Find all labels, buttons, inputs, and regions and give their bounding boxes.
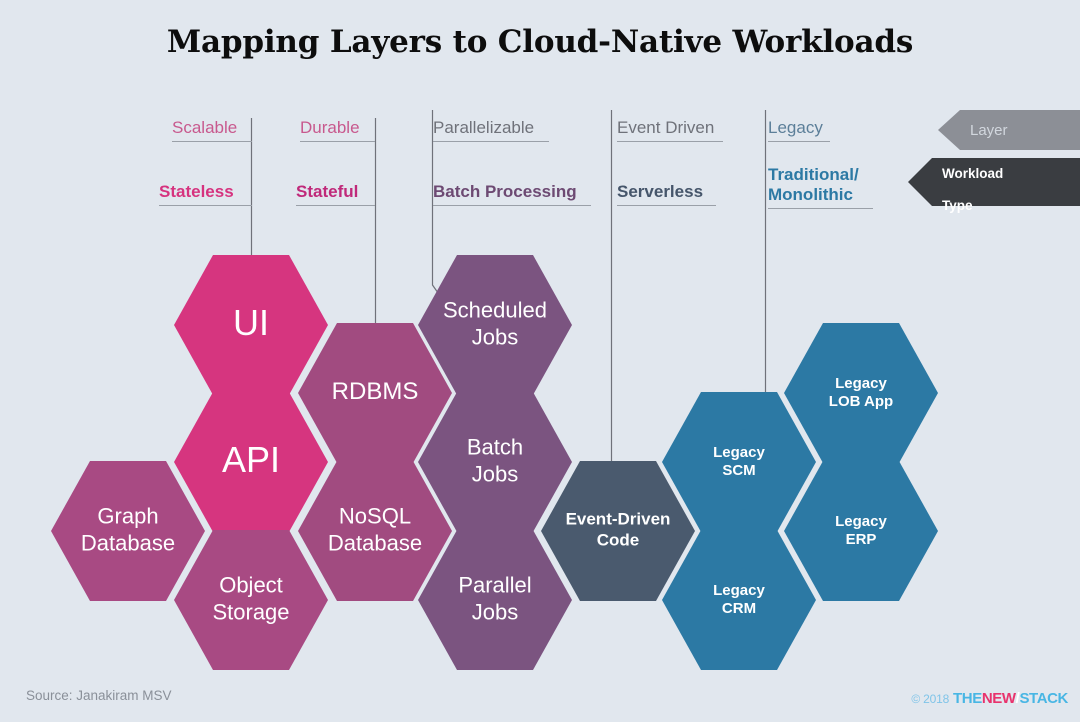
hexagon-label-line: Database [81,530,175,555]
brand-credit: © 2018 THENEW/STACK [911,690,1068,707]
hexagon-ui[interactable]: UI [174,255,328,395]
thenewstack-logo: THENEW/STACK [953,690,1068,707]
hexagon-label-line: UI [233,302,269,343]
hexagon-grid: UIAPIGraphDatabaseObjectStorageRDBMSNoSQ… [0,0,1080,722]
hexagon-label: ObjectStorage [212,572,289,624]
hexagon-batch-jobs[interactable]: BatchJobs [418,392,572,532]
copyright-text: © 2018 [911,692,949,706]
brand-stack: STACK [1019,690,1068,707]
hexagon-label-line: Event-Driven [566,510,671,529]
hexagon-label-line: SCM [722,462,755,479]
hexagon-label: API [222,439,280,480]
hexagon-label-line: Code [597,531,640,550]
brand-the: THE [953,690,982,707]
hexagon-label-line: Jobs [472,324,518,349]
hexagon-label-line: ERP [846,531,877,548]
hexagon-label: BatchJobs [467,434,523,486]
hexagon-label-line: Jobs [472,461,518,486]
hexagon-label: LegacyLOB App [829,375,893,410]
hexagon-label-line: Parallel [458,572,531,597]
hexagon-label-line: Scheduled [443,297,547,322]
hexagon-label-line: Batch [467,434,523,459]
hexagon-label-line: Graph [97,503,158,528]
hexagon-label-line: RDBMS [332,378,419,405]
hexagon-event-driven-code[interactable]: Event-DrivenCode [541,461,695,601]
hexagon-parallel-jobs[interactable]: ParallelJobs [418,530,572,670]
hexagon-label-line: NoSQL [339,503,411,528]
hexagon-legacy-erp[interactable]: LegacyERP [784,461,938,601]
hexagon-label-line: Legacy [713,444,765,461]
hexagon-object-storage[interactable]: ObjectStorage [174,530,328,670]
hexagon-nosql-database[interactable]: NoSQLDatabase [298,461,452,601]
hexagon-label: RDBMS [332,378,419,405]
hexagon-label: NoSQLDatabase [328,503,422,555]
hexagon-label-line: LOB App [829,393,893,410]
hexagon-label-line: CRM [722,600,756,617]
hexagon-label-line: Jobs [472,599,518,624]
hexagon-legacy-scm[interactable]: LegacySCM [662,392,816,532]
hexagon-label-line: Legacy [835,375,887,392]
hexagon-label-line: Storage [212,599,289,624]
source-credit: Source: Janakiram MSV [26,688,172,703]
hexagon-legacy-lob-app[interactable]: LegacyLOB App [784,323,938,463]
hexagon-label-line: API [222,439,280,480]
hexagon-api[interactable]: API [174,392,328,532]
hexagon-label-line: Database [328,530,422,555]
hexagon-legacy-crm[interactable]: LegacyCRM [662,530,816,670]
brand-new: NEW [982,690,1016,707]
hexagon-label: UI [233,302,269,343]
hexagon-label-line: Legacy [835,513,887,530]
hexagon-label-line: Object [219,572,283,597]
diagram-canvas: Mapping Layers to Cloud-Native Workloads… [0,0,1080,722]
hexagon-graph-database[interactable]: GraphDatabase [51,461,205,601]
hexagon-label-line: Legacy [713,582,765,599]
